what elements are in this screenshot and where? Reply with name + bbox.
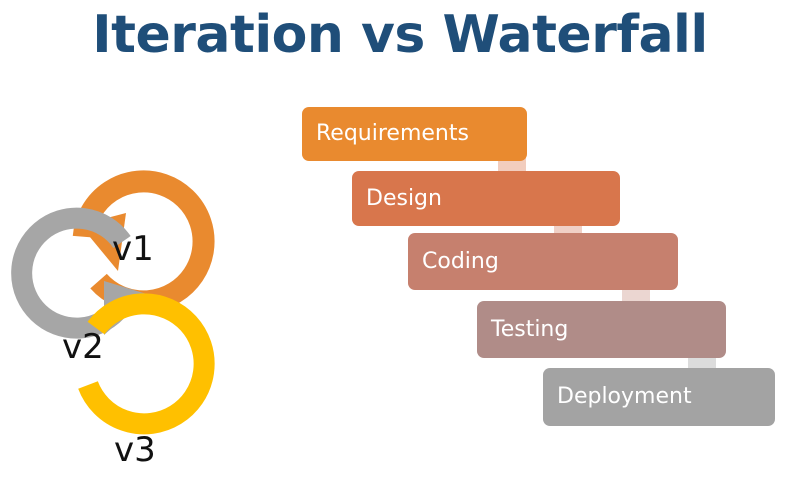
waterfall-stage-testing[interactable]: Testing <box>477 301 726 358</box>
waterfall-stage-label: Requirements <box>316 123 469 145</box>
waterfall-stage-coding[interactable]: Coding <box>408 233 678 290</box>
waterfall-stage-requirements[interactable]: Requirements <box>302 107 527 161</box>
waterfall-stage-deployment[interactable]: Deployment <box>543 368 775 426</box>
diagram-canvas: Iteration vs Waterfall v1 v2 v3 <box>0 0 800 477</box>
waterfall-stage-label: Design <box>366 188 442 210</box>
waterfall-stage-label: Testing <box>491 319 568 341</box>
waterfall-diagram: Requirements Design Coding Testing Deplo… <box>0 0 800 477</box>
waterfall-stage-label: Deployment <box>557 386 692 408</box>
waterfall-stage-label: Coding <box>422 251 499 273</box>
waterfall-stage-design[interactable]: Design <box>352 171 620 226</box>
